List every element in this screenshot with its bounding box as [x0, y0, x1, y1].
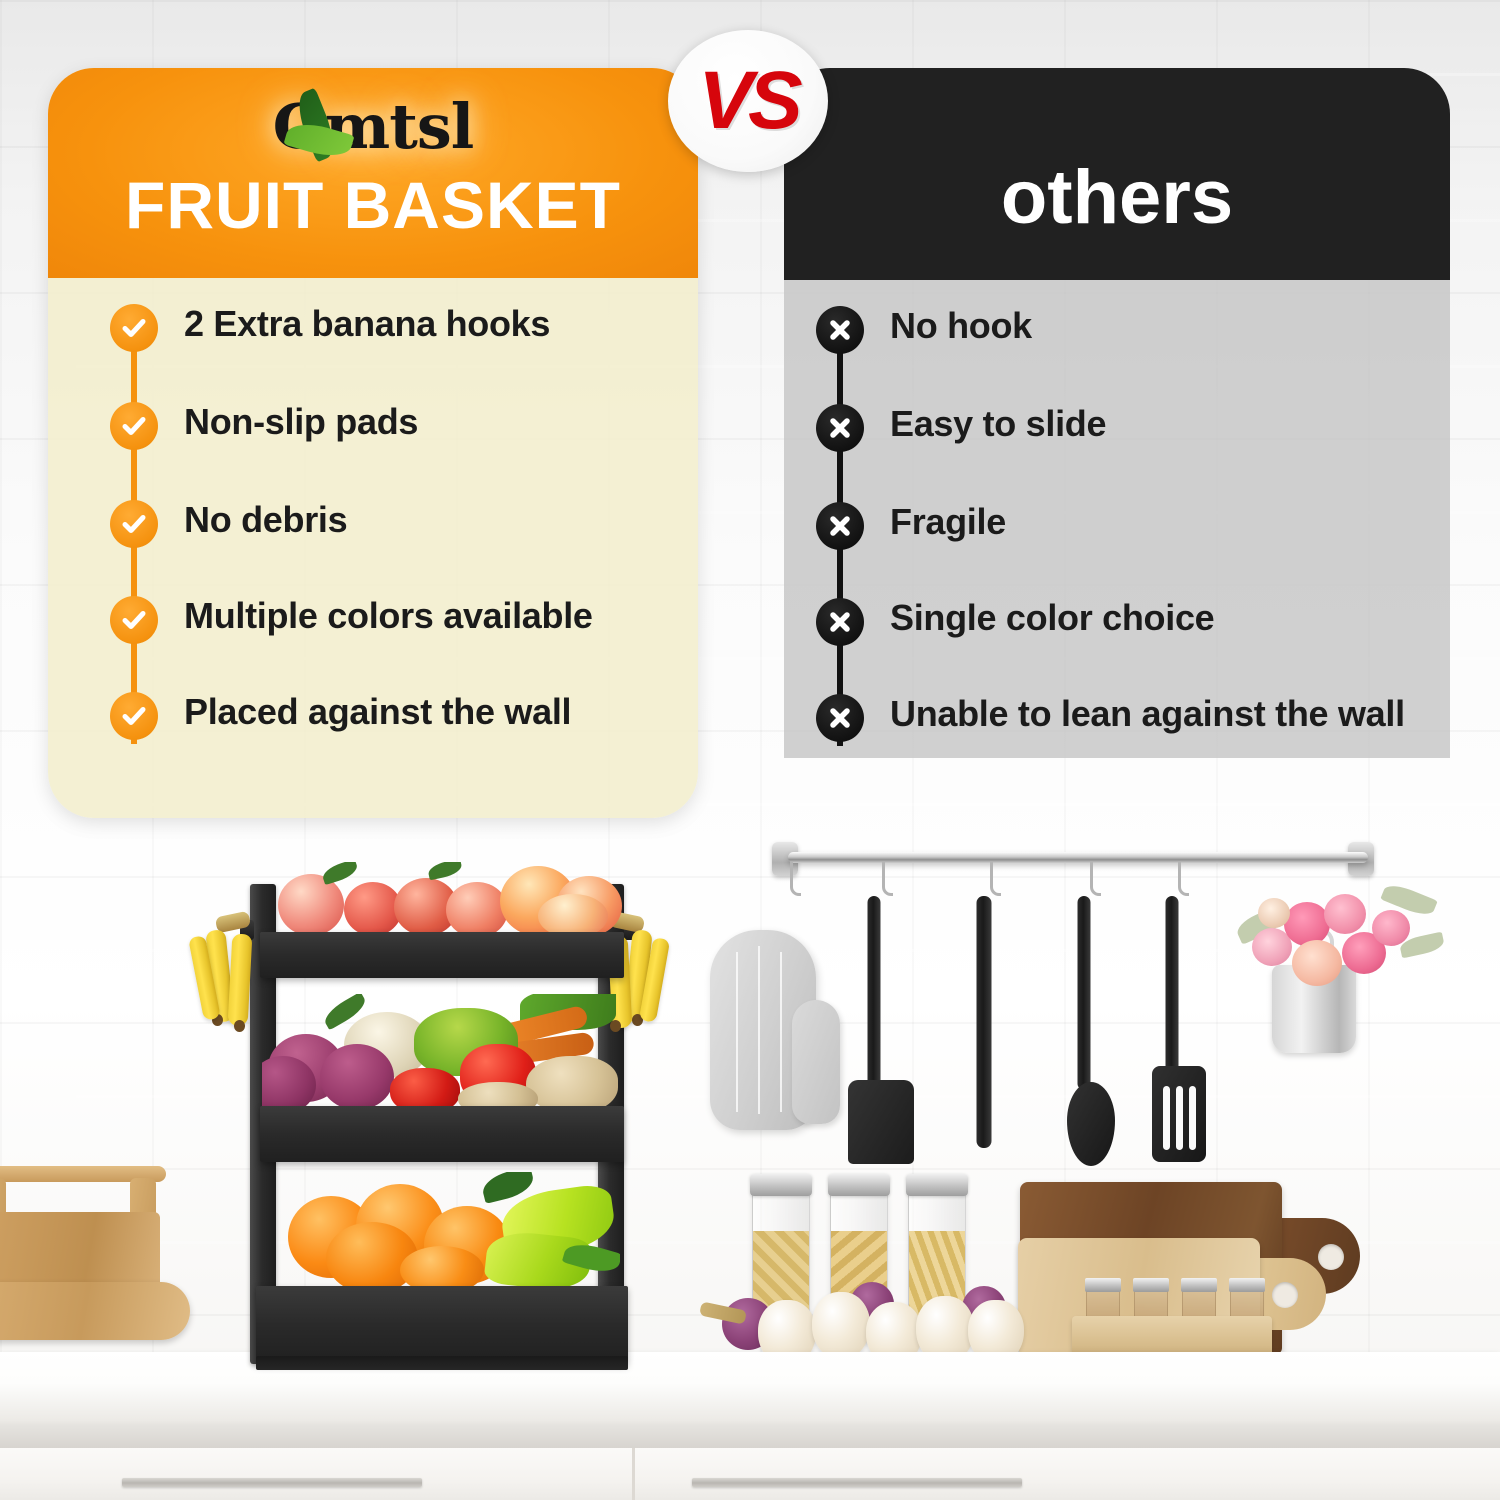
pros-item-1: 2 Extra banana hooks [110, 304, 670, 352]
cons-item-2-label: Easy to slide [890, 404, 1106, 444]
cross-icon [816, 306, 864, 354]
check-icon [110, 402, 158, 450]
pros-item-2-label: Non-slip pads [184, 402, 418, 442]
pros-item-3: No debris [110, 500, 670, 548]
pros-item-5: Placed against the wall [110, 692, 670, 740]
cons-item-3-label: Fragile [890, 502, 1006, 542]
cross-icon [816, 404, 864, 452]
others-panel-header: others [784, 68, 1450, 280]
cons-item-4-label: Single color choice [890, 598, 1214, 638]
cons-item-3: Fragile [816, 502, 1426, 550]
vs-label: VS [698, 60, 797, 142]
cons-item-1: No hook [816, 306, 1426, 354]
cons-item-5-label: Unable to lean against the wall [890, 694, 1405, 734]
product-comparison-panel: Gmtsl FRUIT BASKET 2 Extra banana hooks … [48, 68, 698, 818]
cross-icon [816, 598, 864, 646]
pros-item-1-label: 2 Extra banana hooks [184, 304, 550, 344]
others-title: others [784, 160, 1450, 236]
check-icon [110, 304, 158, 352]
check-icon [110, 692, 158, 740]
cons-item-1-label: No hook [890, 306, 1032, 346]
pros-item-3-label: No debris [184, 500, 347, 540]
check-icon [110, 500, 158, 548]
comparison-overlay: Gmtsl FRUIT BASKET 2 Extra banana hooks … [0, 0, 1500, 1500]
cons-item-2: Easy to slide [816, 404, 1426, 452]
product-title: FRUIT BASKET [48, 172, 698, 238]
pros-item-2: Non-slip pads [110, 402, 670, 450]
pros-item-5-label: Placed against the wall [184, 692, 571, 732]
others-comparison-panel: others No hook Easy to slide Frag [784, 68, 1450, 758]
cons-item-5: Unable to lean against the wall [816, 694, 1426, 742]
pros-item-4-label: Multiple colors available [184, 596, 593, 636]
cons-item-4: Single color choice [816, 598, 1426, 646]
brand-logo: Gmtsl [48, 96, 698, 158]
product-panel-header: Gmtsl FRUIT BASKET [48, 68, 698, 278]
vs-badge: VS [668, 30, 828, 172]
check-icon [110, 596, 158, 644]
cross-icon [816, 502, 864, 550]
pros-item-4: Multiple colors available [110, 596, 670, 644]
cross-icon [816, 694, 864, 742]
